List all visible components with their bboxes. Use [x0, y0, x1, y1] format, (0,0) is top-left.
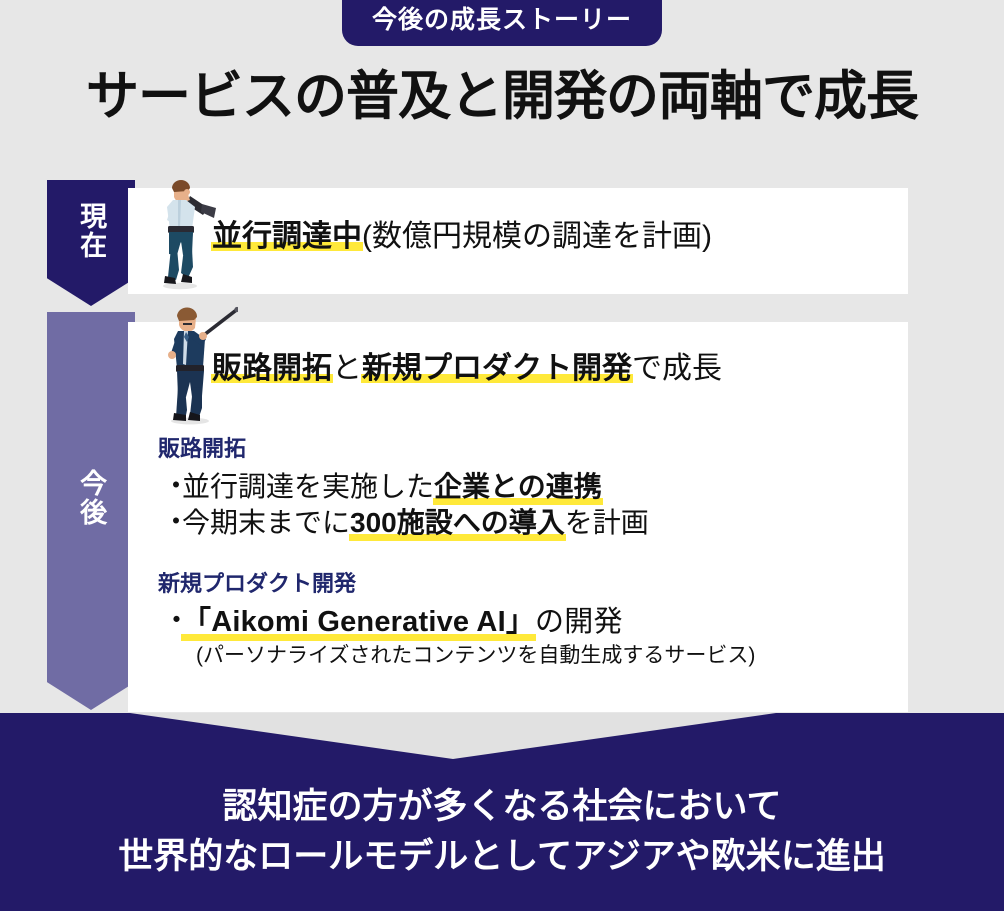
bullet-text-highlight: 企業との連携 — [434, 469, 602, 505]
subsection-sales-title: 販路開拓 — [158, 438, 649, 460]
timeline-step-now: 現在 — [47, 180, 135, 306]
subsection-sales: 販路開拓 ・並行調達を実施した企業との連携 ・今期末までに300施設への導入を計… — [158, 438, 649, 541]
subsection-product-bullets: ・「Aikomi Generative AI」の開発 (パーソナライズされたコン… — [158, 604, 755, 668]
bullet-text-plain: 並行調達を実施した — [182, 471, 434, 502]
subsection-product: 新規プロダクト開発 ・「Aikomi Generative AI」の開発 (パー… — [158, 573, 755, 668]
bullet-text-highlight: 「Aikomi Generative AI」 — [182, 604, 535, 641]
timeline-step-future-label: 今後 — [76, 469, 106, 527]
bullet-dot: ・ — [162, 504, 190, 540]
list-item: ・今期末までに300施設への導入を計画 — [158, 505, 649, 541]
header-badge: 今後の成長ストーリー — [342, 0, 662, 46]
footer-message: 認知症の方が多くなる社会において 世界的なロールモデルとしてアジアや欧米に進出 — [0, 782, 1004, 881]
timeline-step-future: 今後 — [47, 312, 135, 710]
card-future-headline: 販路開拓と新規プロダクト開発で成長 — [212, 354, 722, 384]
card-future-headline-tail: で成長 — [632, 352, 722, 385]
card-future-headline-part1: 販路開拓 — [212, 354, 332, 384]
bullet-text-tail: を計画 — [565, 507, 649, 538]
bullet-text-highlight: 300施設への導入 — [350, 505, 565, 541]
list-item: ・並行調達を実施した企業との連携 — [158, 469, 649, 505]
subsection-product-title: 新規プロダクト開発 — [158, 573, 755, 595]
subsection-product-note: (パーソナライズされたコンテンツを自動生成するサービス) — [158, 643, 755, 668]
bullet-dot: ・ — [162, 468, 190, 504]
list-item: ・「Aikomi Generative AI」の開発 — [158, 604, 755, 641]
subsection-sales-bullets: ・並行調達を実施した企業との連携 ・今期末までに300施設への導入を計画 — [158, 469, 649, 541]
timeline-step-now-label: 現在 — [76, 202, 106, 260]
page-title: サービスの普及と開発の両軸で成長 — [0, 68, 1004, 126]
bullet-text-plain: 今期末までに — [182, 507, 350, 538]
card-now-headline-plain: (数億円規模の調達を計画) — [362, 220, 712, 253]
card-future-headline-connector: と — [332, 352, 362, 385]
footer-line-2: 世界的なロールモデルとしてアジアや欧米に進出 — [0, 832, 1004, 882]
card-future-headline-part2: 新規プロダクト開発 — [362, 354, 632, 384]
slide-root: 今後の成長ストーリー サービスの普及と開発の両軸で成長 現在 今後 並行調達中(… — [0, 0, 1004, 911]
card-now-headline: 並行調達中(数億円規模の調達を計画) — [212, 222, 712, 252]
footer-line-1: 認知症の方が多くなる社会において — [0, 782, 1004, 832]
bullet-text-tail: の開発 — [535, 606, 623, 638]
card-now-headline-highlight: 並行調達中 — [212, 222, 362, 252]
